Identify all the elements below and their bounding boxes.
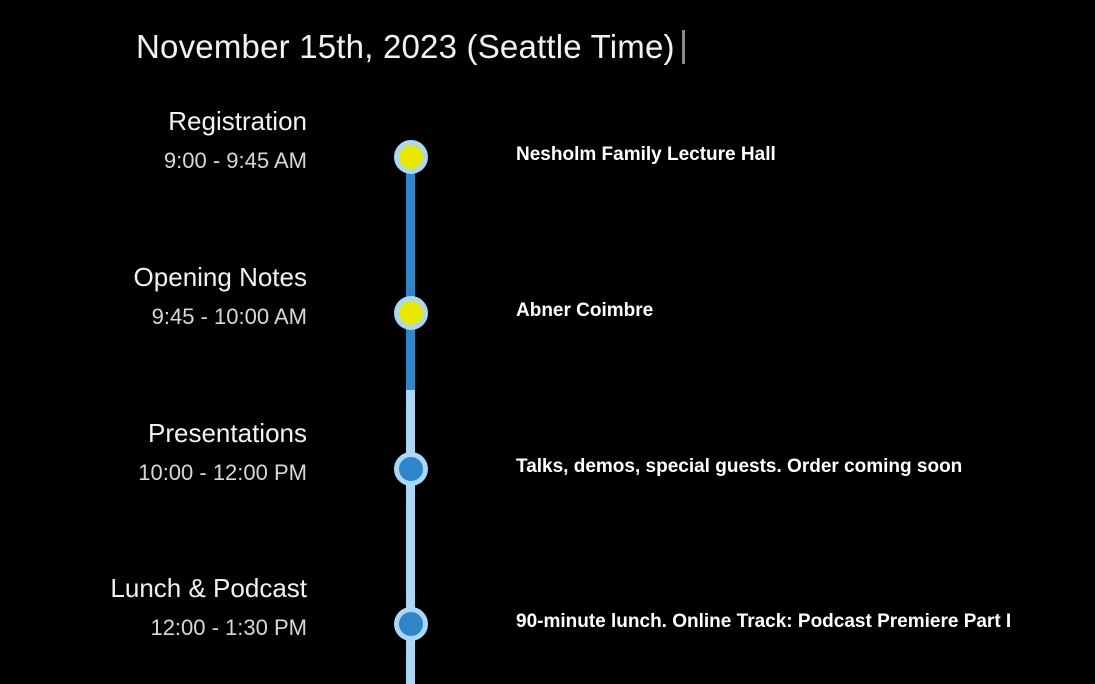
timeline-dot-lunch-podcast[interactable] <box>394 607 428 641</box>
timeline-row[interactable]: Registration 9:00 - 9:45 AM Nesholm Fami… <box>0 104 1095 260</box>
timeline-right-col: 90-minute lunch. Online Track: Podcast P… <box>516 609 1095 635</box>
timeline-item-title: Opening Notes <box>0 260 307 294</box>
page-header: November 15th, 2023 (Seattle Time) <box>136 24 685 70</box>
schedule-timeline: Registration 9:00 - 9:45 AM Nesholm Fami… <box>0 104 1095 684</box>
timeline-item-description: Talks, demos, special guests. Order comi… <box>516 454 1095 480</box>
timeline-item-title: Lunch & Podcast <box>0 571 307 605</box>
timeline-left-col: Opening Notes 9:45 - 10:00 AM <box>0 260 307 332</box>
timeline-item-time: 9:45 - 10:00 AM <box>0 302 307 332</box>
timeline-right-col: Abner Coimbre <box>516 298 1095 324</box>
timeline-dot-opening-notes[interactable] <box>394 296 428 330</box>
timeline-row[interactable]: Opening Notes 9:45 - 10:00 AM Abner Coim… <box>0 260 1095 416</box>
timeline-item-title: Registration <box>0 104 307 138</box>
timeline-item-time: 10:00 - 12:00 PM <box>0 458 307 488</box>
timeline-right-col: Talks, demos, special guests. Order comi… <box>516 454 1095 480</box>
timeline-left-col: Presentations 10:00 - 12:00 PM <box>0 416 307 488</box>
page-title: November 15th, 2023 (Seattle Time) <box>136 24 675 70</box>
timeline-row[interactable]: Lunch & Podcast 12:00 - 1:30 PM 90-minut… <box>0 571 1095 684</box>
text-cursor-caret <box>682 30 685 64</box>
timeline-item-time: 12:00 - 1:30 PM <box>0 613 307 643</box>
timeline-dot-presentations[interactable] <box>394 452 428 486</box>
timeline-item-title: Presentations <box>0 416 307 450</box>
timeline-row[interactable]: Presentations 10:00 - 12:00 PM Talks, de… <box>0 416 1095 572</box>
timeline-item-description: 90-minute lunch. Online Track: Podcast P… <box>516 609 1095 635</box>
timeline-right-col: Nesholm Family Lecture Hall <box>516 142 1095 168</box>
timeline-left-col: Lunch & Podcast 12:00 - 1:30 PM <box>0 571 307 643</box>
timeline-item-time: 9:00 - 9:45 AM <box>0 146 307 176</box>
timeline-item-description: Abner Coimbre <box>516 298 1095 324</box>
timeline-left-col: Registration 9:00 - 9:45 AM <box>0 104 307 176</box>
timeline-item-description: Nesholm Family Lecture Hall <box>516 142 1095 168</box>
timeline-dot-registration[interactable] <box>394 140 428 174</box>
